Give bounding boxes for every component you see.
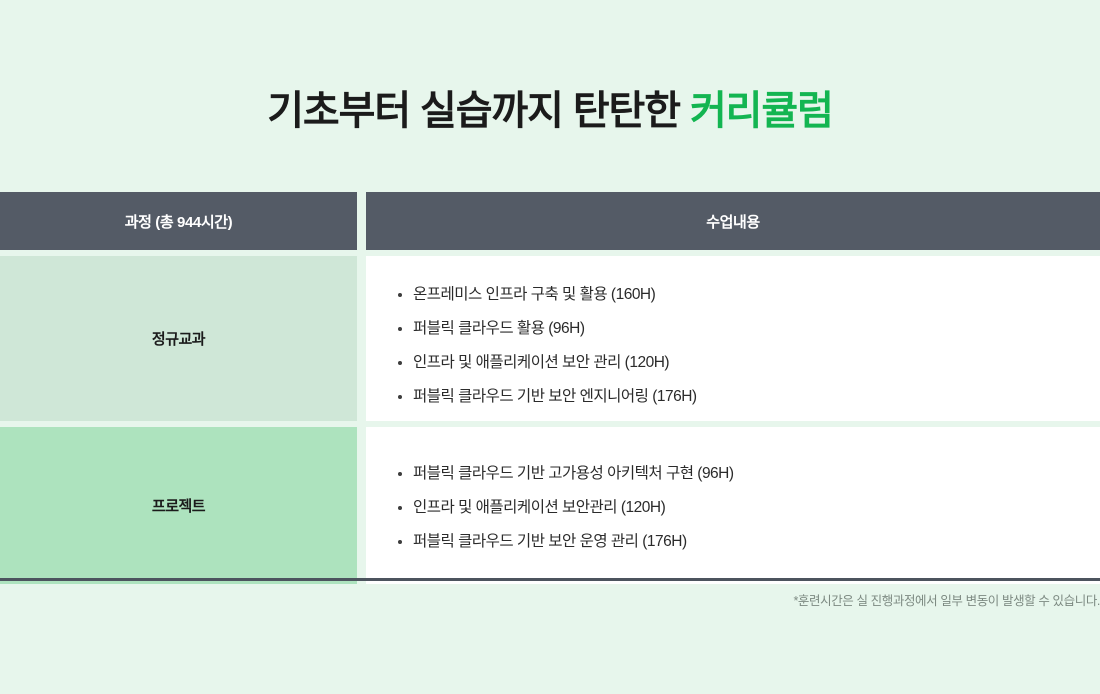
row-content-regular: 온프레미스 인프라 구축 및 활용 (160H) 퍼블릭 클라우드 활용 (96… bbox=[366, 256, 1100, 421]
list-item: 퍼블릭 클라우드 기반 고가용성 아키텍처 구현 (96H) bbox=[396, 457, 1100, 491]
table-header-course: 과정 (총 944시간) bbox=[0, 192, 357, 250]
list-item: 퍼블릭 클라우드 기반 보안 엔지니어링 (176H) bbox=[396, 380, 1100, 414]
column-gap bbox=[357, 192, 366, 250]
column-gap bbox=[357, 256, 366, 421]
page-title-accent: 커리큘럼 bbox=[690, 89, 833, 133]
table-row: 프로젝트 퍼블릭 클라우드 기반 고가용성 아키텍처 구현 (96H) 인프라 … bbox=[0, 427, 1100, 584]
row-label-project: 프로젝트 bbox=[0, 427, 357, 584]
table-header-content: 수업내용 bbox=[366, 192, 1100, 250]
row-label-regular: 정규교과 bbox=[0, 256, 357, 421]
footnote: *훈련시간은 실 진행과정에서 일부 변동이 발생할 수 있습니다. bbox=[0, 590, 1100, 609]
curriculum-list-regular: 온프레미스 인프라 구축 및 활용 (160H) 퍼블릭 클라우드 활용 (96… bbox=[396, 278, 1100, 414]
list-item: 인프라 및 애플리케이션 보안관리 (120H) bbox=[396, 491, 1100, 525]
column-gap bbox=[357, 427, 366, 584]
curriculum-list-project: 퍼블릭 클라우드 기반 고가용성 아키텍처 구현 (96H) 인프라 및 애플리… bbox=[396, 457, 1100, 559]
curriculum-table: 과정 (총 944시간) 수업내용 정규교과 온프레미스 인프라 구축 및 활용… bbox=[0, 192, 1100, 584]
page-title-plain: 기초부터 실습까지 탄탄한 bbox=[267, 89, 690, 133]
page-title: 기초부터 실습까지 탄탄한 커리큘럼 bbox=[0, 86, 1100, 136]
table-bottom-border bbox=[0, 578, 1100, 581]
list-item: 인프라 및 애플리케이션 보안 관리 (120H) bbox=[396, 346, 1100, 380]
row-content-project: 퍼블릭 클라우드 기반 고가용성 아키텍처 구현 (96H) 인프라 및 애플리… bbox=[366, 427, 1100, 584]
list-item: 온프레미스 인프라 구축 및 활용 (160H) bbox=[396, 278, 1100, 312]
list-item: 퍼블릭 클라우드 기반 보안 운영 관리 (176H) bbox=[396, 525, 1100, 559]
page-title-section: 기초부터 실습까지 탄탄한 커리큘럼 bbox=[0, 0, 1100, 136]
table-header-row: 과정 (총 944시간) 수업내용 bbox=[0, 192, 1100, 250]
table-row: 정규교과 온프레미스 인프라 구축 및 활용 (160H) 퍼블릭 클라우드 활… bbox=[0, 256, 1100, 421]
list-item: 퍼블릭 클라우드 활용 (96H) bbox=[396, 312, 1100, 346]
